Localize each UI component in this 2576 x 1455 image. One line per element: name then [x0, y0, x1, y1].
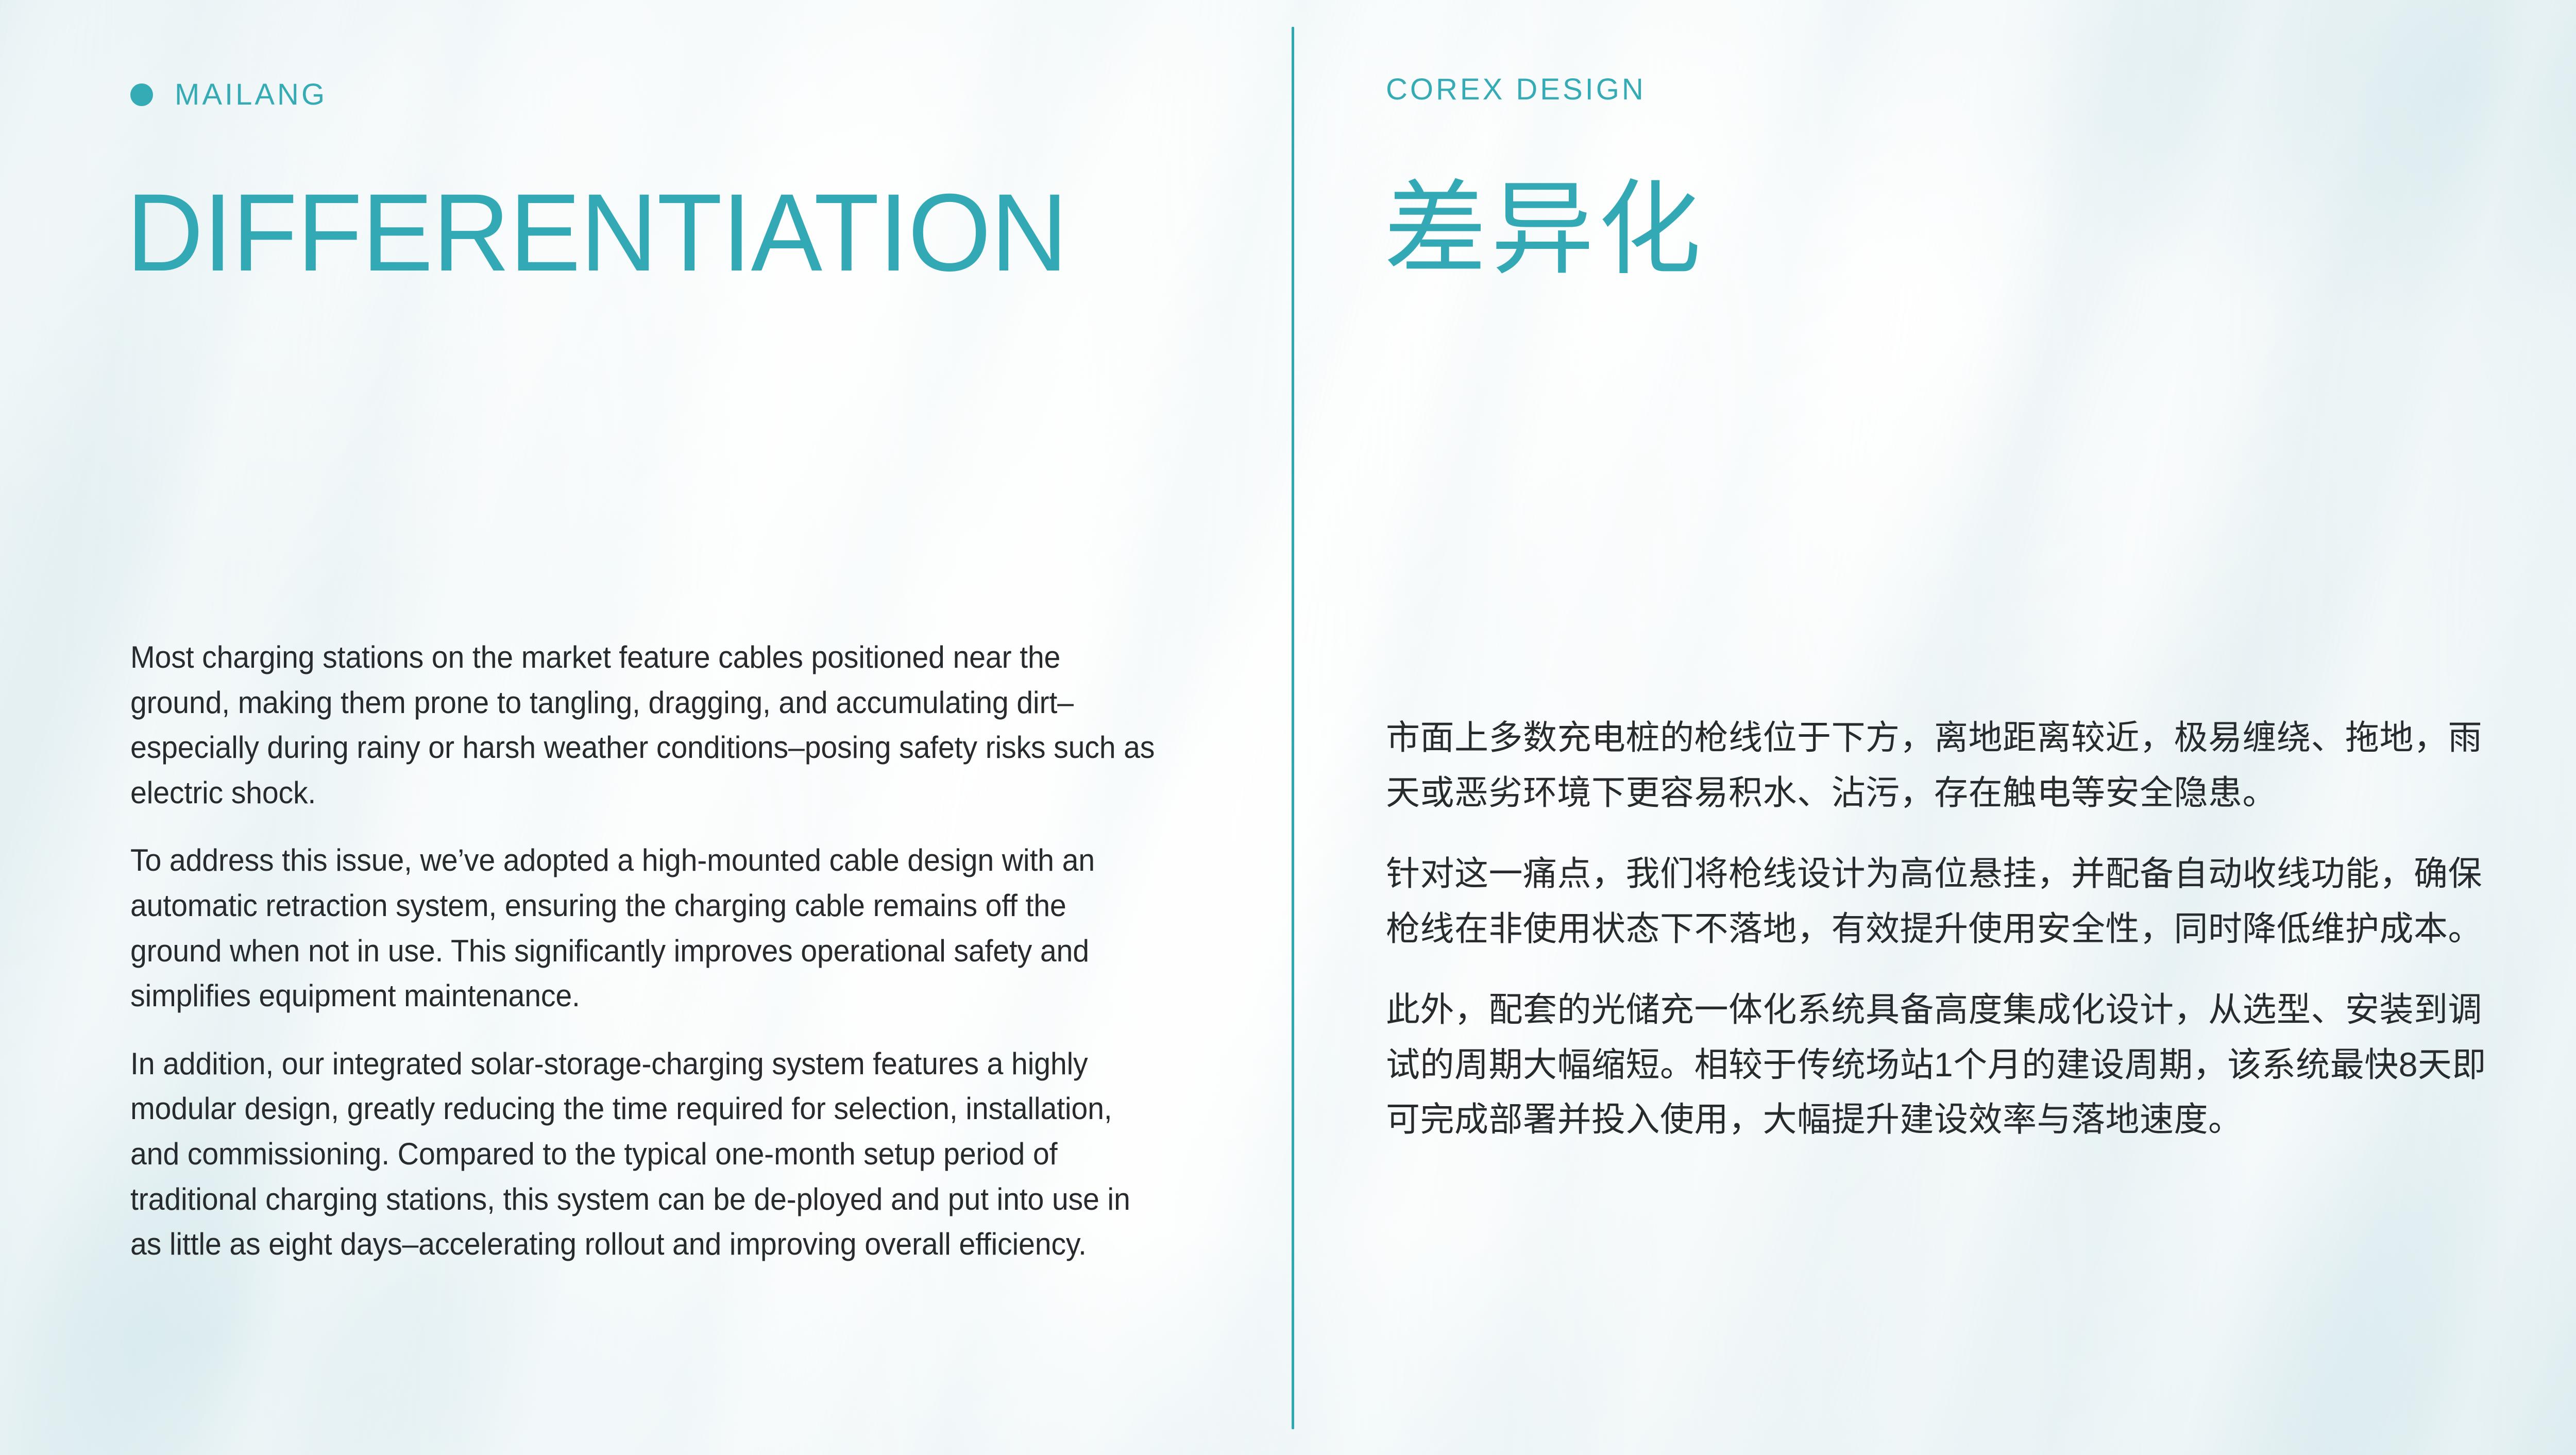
paragraph: 针对这一痛点，我们将枪线设计为高位悬挂，并配备自动收线功能，确保枪线在非使用状态… — [1386, 846, 2494, 956]
left-body-copy: Most charging stations on the market fea… — [130, 635, 1164, 1267]
brand-label: MAILANG — [175, 77, 327, 112]
left-eyebrow: MAILANG — [130, 77, 327, 112]
paragraph: In addition, our integrated solar-storag… — [130, 1041, 1164, 1267]
filled-circle-icon — [130, 83, 153, 106]
right-eyebrow: COREX DESIGN — [1386, 72, 1646, 107]
right-body-copy: 市面上多数充电桩的枪线位于下方，离地距离较近，极易缠绕、拖地，雨天或恶劣环境下更… — [1386, 710, 2494, 1147]
page-title-chinese: 差异化 — [1384, 174, 1705, 285]
slide-canvas: MAILANG DIFFERENTIATION Most charging st… — [0, 0, 2576, 1455]
left-column: MAILANG DIFFERENTIATION Most charging st… — [130, 0, 1243, 1455]
paragraph: 此外，配套的光储充一体化系统具备高度集成化设计，从选型、安装到调试的周期大幅缩短… — [1386, 982, 2494, 1147]
paragraph: 市面上多数充电桩的枪线位于下方，离地距离较近，极易缠绕、拖地，雨天或恶劣环境下更… — [1386, 710, 2494, 820]
right-column: COREX DESIGN 差异化 市面上多数充电桩的枪线位于下方，离地距离较近，… — [1386, 0, 2519, 1455]
paragraph: To address this issue, we’ve adopted a h… — [130, 838, 1164, 1018]
slide-content: MAILANG DIFFERENTIATION Most charging st… — [0, 0, 2576, 1455]
column-divider — [1292, 27, 1294, 1429]
page-title-english: DIFFERENTIATION — [126, 178, 1067, 288]
paragraph: Most charging stations on the market fea… — [130, 635, 1164, 815]
studio-label: COREX DESIGN — [1386, 72, 1646, 107]
